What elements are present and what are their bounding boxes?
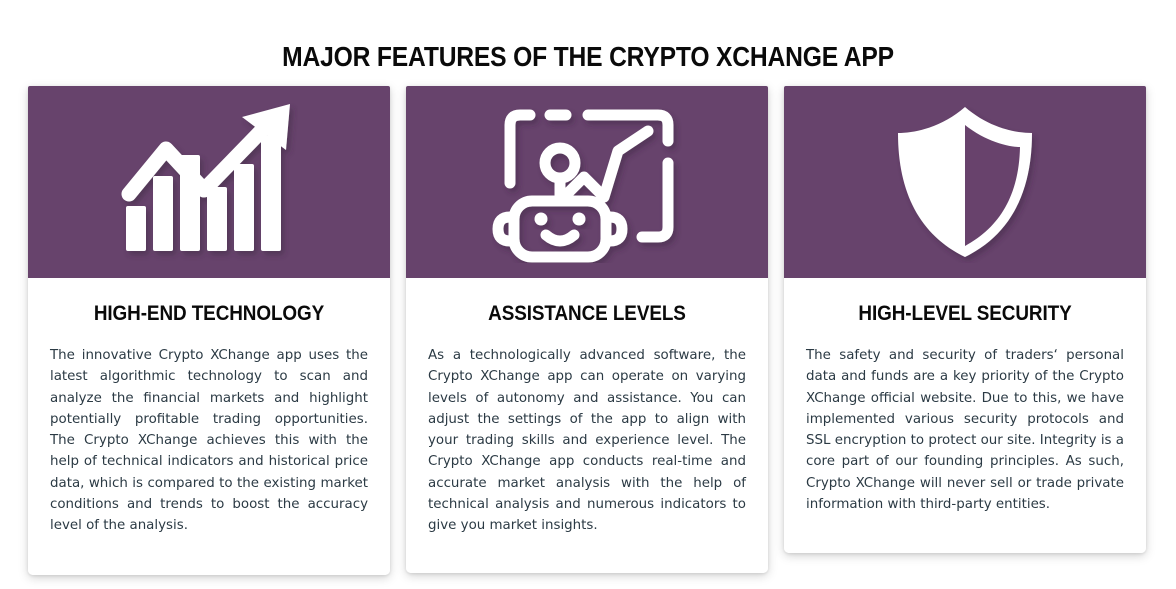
feature-card-list: HIGH-END TECHNOLOGY The innovative Crypt… <box>28 86 1148 575</box>
feature-card-high-level-security: HIGH-LEVEL SECURITY The safety and secur… <box>784 86 1146 553</box>
card-description: The innovative Crypto XChange app uses t… <box>50 345 368 553</box>
card-heading: ASSISTANCE LEVELS <box>444 302 730 326</box>
card-description: As a technologically advanced software, … <box>428 345 746 551</box>
growth-bar-chart-icon <box>120 102 298 262</box>
shield-security-icon <box>890 101 1040 263</box>
card-heading: HIGH-LEVEL SECURITY <box>822 302 1108 326</box>
trading-bot-icon <box>492 101 682 263</box>
card-heading: HIGH-END TECHNOLOGY <box>66 302 352 326</box>
card-body: HIGH-LEVEL SECURITY The safety and secur… <box>784 278 1146 553</box>
card-icon-area <box>406 86 768 278</box>
card-icon-area <box>784 86 1146 278</box>
feature-card-high-end-technology: HIGH-END TECHNOLOGY The innovative Crypt… <box>28 86 390 575</box>
card-description: The safety and security of traders‘ pers… <box>806 345 1124 531</box>
card-body: ASSISTANCE LEVELS As a technologically a… <box>406 278 768 573</box>
card-icon-area <box>28 86 390 278</box>
feature-card-assistance-levels: ASSISTANCE LEVELS As a technologically a… <box>406 86 768 573</box>
feature-section: MAJOR FEATURES OF THE CRYPTO XCHANGE APP <box>0 0 1176 589</box>
card-body: HIGH-END TECHNOLOGY The innovative Crypt… <box>28 278 390 575</box>
page-title: MAJOR FEATURES OF THE CRYPTO XCHANGE APP <box>71 41 1106 73</box>
